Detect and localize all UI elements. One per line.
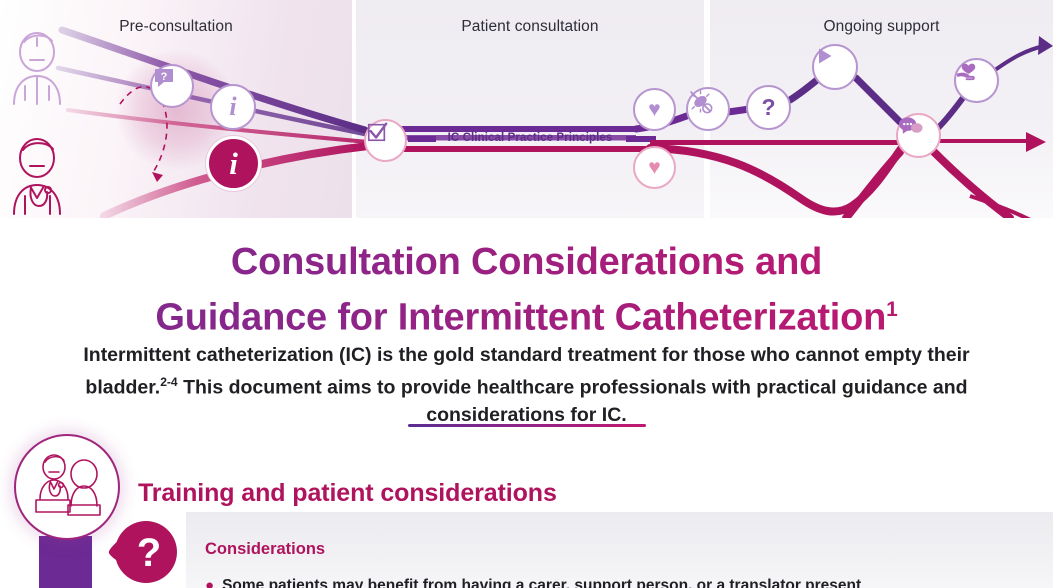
patient-journey-banner: Pre-consultation Patient consultation On…: [0, 0, 1053, 218]
question-badge-glyph: ?: [108, 519, 180, 587]
no-infection-icon[interactable]: [686, 87, 730, 131]
checkbox-glyph: [366, 121, 388, 143]
heart-glyph: ♥: [648, 99, 660, 120]
clinician-outline-icon: [14, 139, 60, 214]
section-heading: Training and patient considerations: [138, 479, 557, 508]
infographic-page: Pre-consultation Patient consultation On…: [0, 0, 1053, 588]
patient-outline-icon: [14, 33, 60, 104]
info-glyph: i: [229, 94, 236, 120]
consultation-glyph: [28, 452, 106, 522]
svg-text:?: ?: [161, 71, 168, 83]
ic-clinical-practice-principles-label: IC Clinical Practice Principles: [430, 132, 630, 144]
section-divider: [408, 424, 646, 427]
consultation-icon: [14, 434, 120, 540]
question-speech-bubble-icon[interactable]: ?: [150, 64, 194, 108]
considerations-label: Considerations: [205, 540, 325, 559]
question-icon[interactable]: ?: [746, 85, 791, 130]
checklist-icon[interactable]: [364, 119, 407, 162]
section-accent-bar: [39, 536, 92, 588]
play-glyph: [814, 46, 834, 66]
heart-pink-glyph: ♥: [648, 157, 660, 178]
info-icon[interactable]: i: [210, 84, 256, 130]
chat-bubbles-glyph: [898, 115, 923, 137]
journey-flow-lines: [0, 0, 1053, 218]
hand-heart-icon[interactable]: [954, 58, 999, 103]
list-item: ●Some patients may benefit from having a…: [205, 577, 1035, 588]
hand-heart-glyph: [956, 60, 981, 84]
speech-bubble-question-glyph: ?: [152, 66, 176, 90]
bacteria-blocked-glyph: [688, 89, 713, 114]
info-filled-icon[interactable]: i: [206, 136, 261, 191]
info-filled-glyph: i: [229, 148, 238, 179]
intro-paragraph: Intermittent catheterization (IC) is the…: [50, 342, 1003, 430]
heart-icon[interactable]: ♥: [633, 88, 676, 131]
chat-bubbles-icon[interactable]: [896, 113, 941, 158]
intro-superscript: 2-4: [160, 375, 177, 389]
page-title-superscript: 1: [886, 298, 897, 321]
page-title-line2: Guidance for Intermittent Catheterizatio…: [155, 297, 886, 339]
question-badge: ?: [108, 519, 180, 587]
heart-pink-icon[interactable]: ♥: [633, 146, 676, 189]
page-title: Consultation Considerations and Guidance…: [0, 239, 1053, 342]
intro-part2: This document aims to provide healthcare…: [178, 377, 968, 427]
play-icon[interactable]: [812, 44, 858, 90]
page-title-line1: Consultation Considerations and: [231, 241, 822, 283]
bullet-text: Some patients may benefit from having a …: [222, 577, 861, 588]
bullet-dot: ●: [205, 577, 214, 588]
question-glyph: ?: [761, 96, 775, 119]
